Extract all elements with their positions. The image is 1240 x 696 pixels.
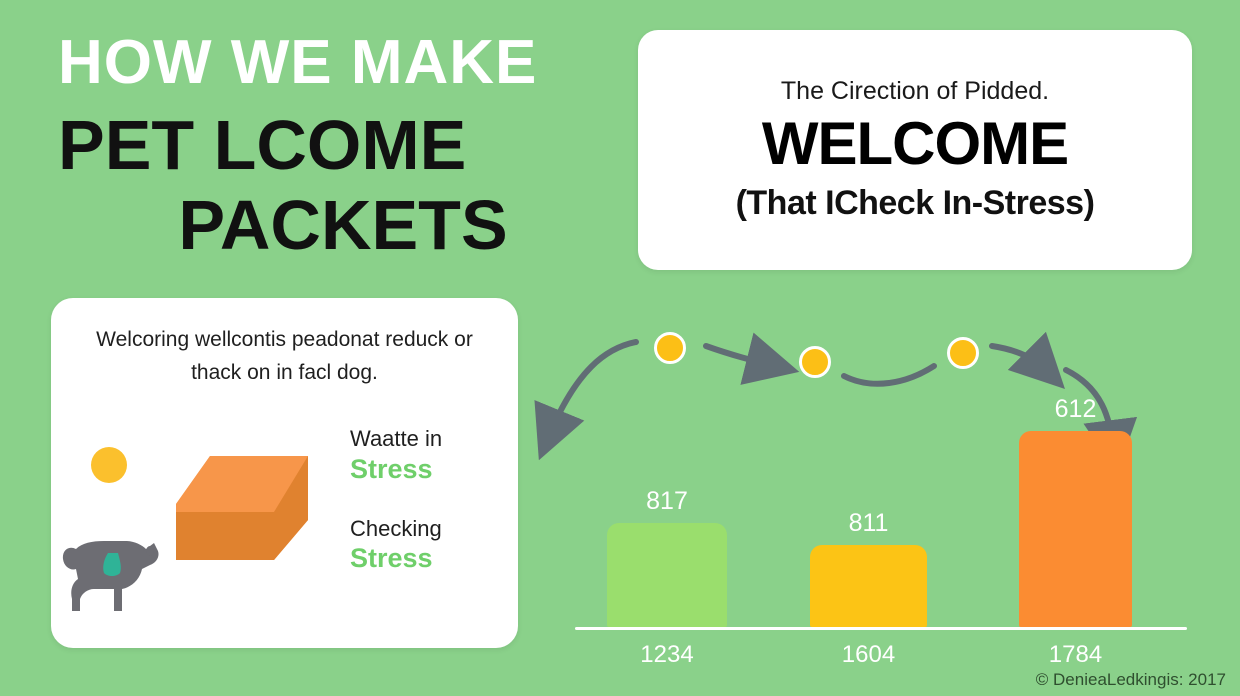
flow-dot-2 (799, 346, 831, 378)
bar-3[interactable] (1019, 431, 1132, 627)
package-box-icon (176, 456, 308, 560)
legend: Waatte in Stress Checking Stress (350, 425, 510, 605)
legend-item-2-bottom: Stress (350, 542, 510, 574)
bar-2[interactable] (810, 545, 927, 627)
welcome-kicker: The Cirection of Pidded. (781, 77, 1049, 106)
welcome-title: WELCOME (762, 114, 1068, 174)
info-card-body: Welcoring wellcontis peadonat reduck or … (51, 324, 518, 389)
dog-icon (58, 527, 166, 613)
infographic-canvas: HOW WE MAKE PET LCOME PACKETS The Cirect… (0, 0, 1240, 696)
legend-item-1-top: Waatte in (350, 425, 510, 453)
flow-dot-3 (947, 337, 979, 369)
bar-3-category: 1784 (1011, 641, 1141, 669)
flow-dot-1 (654, 332, 686, 364)
headline-block: HOW WE MAKE PET LCOME PACKETS (58, 32, 628, 265)
yellow-dot-icon (91, 447, 127, 483)
bar-1-category: 1234 (602, 641, 732, 669)
credit-text: © DenieaLedkingis: 2017 (1036, 670, 1226, 690)
legend-item-2: Checking Stress (350, 515, 510, 575)
legend-item-2-top: Checking (350, 515, 510, 543)
bar-1-value: 817 (607, 487, 727, 516)
legend-item-1: Waatte in Stress (350, 425, 510, 485)
bar-3-value: 612 (1016, 395, 1136, 424)
headline-line-2: PET LCOME (58, 106, 628, 184)
legend-item-1-bottom: Stress (350, 453, 510, 485)
bar-chart: 817 811 612 1234 1604 1784 (560, 380, 1200, 670)
bar-2-category: 1604 (804, 641, 934, 669)
bar-1[interactable] (607, 523, 727, 627)
bar-2-value: 811 (809, 509, 929, 538)
headline-line-1: HOW WE MAKE (58, 32, 628, 94)
welcome-card: The Cirection of Pidded. WELCOME (That I… (638, 30, 1192, 270)
chart-baseline (575, 627, 1187, 630)
headline-line-3: PACKETS (58, 186, 628, 264)
welcome-subtitle: (That ICheck In-Stress) (736, 184, 1095, 223)
